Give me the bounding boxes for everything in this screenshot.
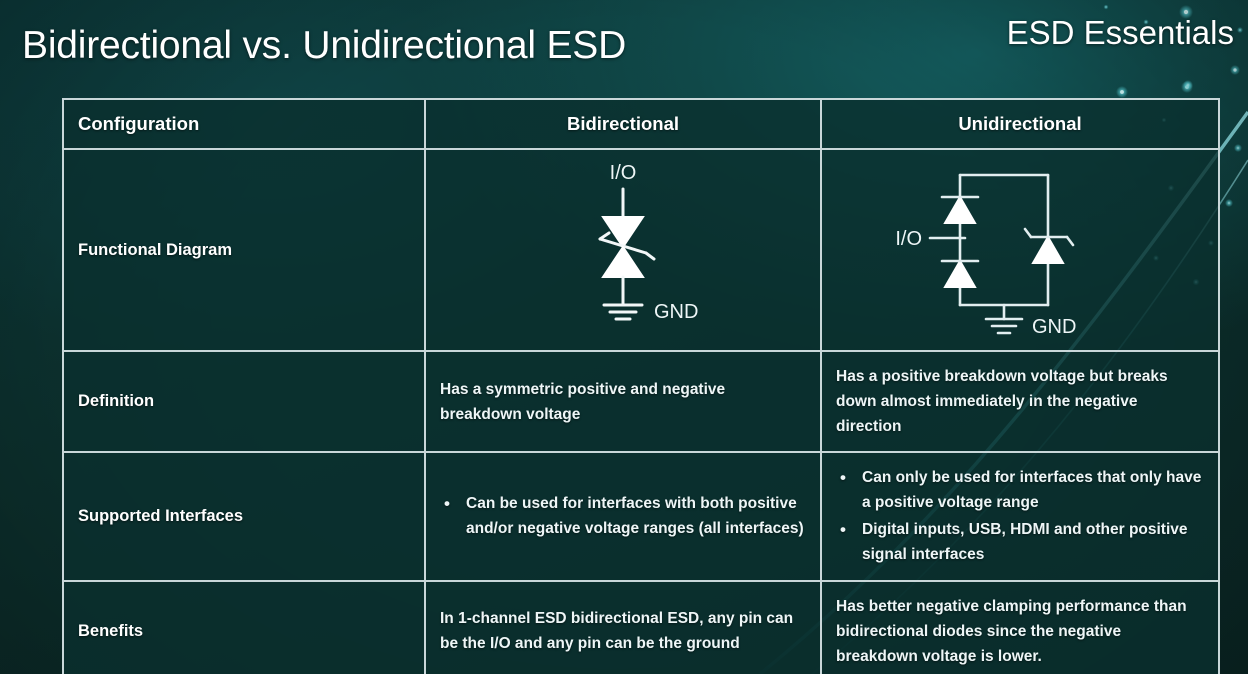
bullet-list: Can be used for interfaces with both pos… (440, 491, 808, 541)
row-label-functional-diagram: Functional Diagram (63, 149, 425, 351)
row-label-definition: Definition (63, 351, 425, 452)
column-header-configuration: Configuration (63, 99, 425, 149)
bullet-list: Can only be used for interfaces that onl… (836, 465, 1206, 566)
bidirectional-io-label: I/O (610, 162, 637, 184)
table-row: Functional Diagram (63, 149, 1219, 351)
list-item: Can only be used for interfaces that onl… (836, 465, 1206, 515)
cell-unidirectional-functional-diagram: I/O GND (821, 149, 1219, 351)
cell-unidirectional-supported-interfaces: Can only be used for interfaces that onl… (821, 452, 1219, 580)
bidirectional-tvs-diode-icon: I/O GND (508, 155, 738, 345)
comparison-table: Configuration Bidirectional Unidirection… (62, 98, 1220, 674)
column-header-bidirectional: Bidirectional (425, 99, 821, 149)
cell-unidirectional-benefits: Has better negative clamping performance… (821, 581, 1219, 674)
cell-bidirectional-functional-diagram: I/O GND (425, 149, 821, 351)
cell-bidirectional-supported-interfaces: Can be used for interfaces with both pos… (425, 452, 821, 580)
unidirectional-steering-diode-zener-icon: I/O GND (870, 153, 1170, 348)
cell-unidirectional-definition: Has a positive breakdown voltage but bre… (821, 351, 1219, 452)
list-item: Digital inputs, USB, HDMI and other posi… (836, 517, 1206, 567)
bidirectional-gnd-label: GND (654, 301, 698, 323)
table-body: Functional Diagram (63, 149, 1219, 674)
cell-bidirectional-benefits: In 1-channel ESD bidirectional ESD, any … (425, 581, 821, 674)
column-header-unidirectional: Unidirectional (821, 99, 1219, 149)
unidirectional-io-label: I/O (895, 228, 922, 250)
table-row: Definition Has a symmetric positive and … (63, 351, 1219, 452)
list-item: Can be used for interfaces with both pos… (440, 491, 808, 541)
row-label-benefits: Benefits (63, 581, 425, 674)
table-header-row: Configuration Bidirectional Unidirection… (63, 99, 1219, 149)
cell-bidirectional-definition: Has a symmetric positive and negative br… (425, 351, 821, 452)
table-header: Configuration Bidirectional Unidirection… (63, 99, 1219, 149)
unidirectional-gnd-label: GND (1032, 316, 1076, 338)
row-label-supported-interfaces: Supported Interfaces (63, 452, 425, 580)
slide-subtitle: ESD Essentials (1007, 14, 1234, 52)
comparison-table-container: Configuration Bidirectional Unidirection… (62, 98, 1220, 666)
table-row: Supported Interfaces Can be used for int… (63, 452, 1219, 580)
table-row: Benefits In 1-channel ESD bidirectional … (63, 581, 1219, 674)
slide-title: Bidirectional vs. Unidirectional ESD (22, 24, 626, 68)
